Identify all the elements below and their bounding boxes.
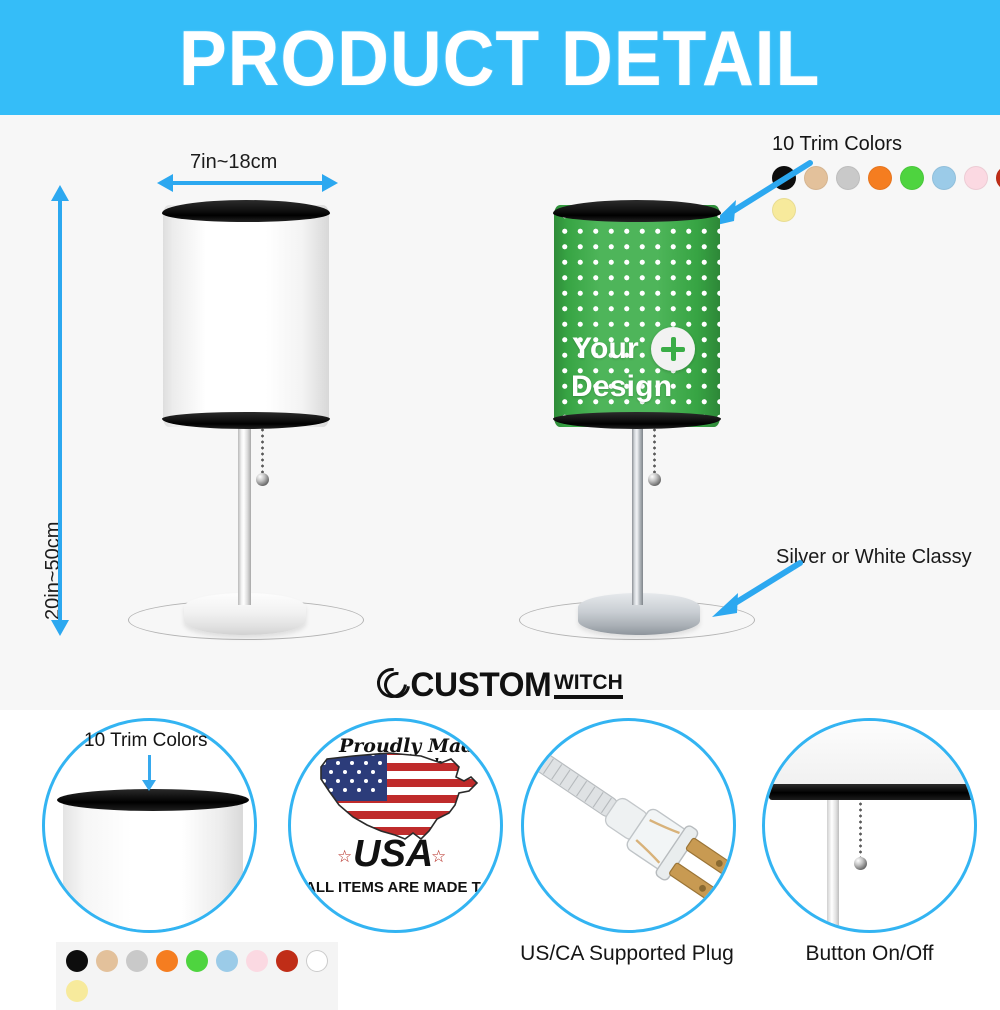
feature-swatch-row-2	[66, 980, 328, 1002]
feature-swatch-dark-red[interactable]	[276, 950, 298, 972]
design-placeholder-line2: Design	[571, 371, 672, 403]
feature-plug-circle	[521, 718, 736, 933]
feature-lamp-pole	[827, 800, 839, 933]
page-header-banner: PRODUCT DETAIL	[0, 0, 1000, 115]
logo-secondary-text: WITCH	[554, 672, 623, 693]
feature-swatch-black[interactable]	[66, 950, 88, 972]
feature-swatch-tan[interactable]	[96, 950, 118, 972]
brand-logo: CUSTOM WITCH	[0, 660, 1000, 710]
feature-switch-circle	[762, 718, 977, 933]
height-arrow-down-icon	[51, 620, 69, 636]
feature-trim-arrow-head-icon	[142, 780, 156, 791]
feature-swatch-pale-yellow[interactable]	[66, 980, 88, 1002]
design-placeholder-line1: Your	[572, 333, 639, 365]
plus-circle-icon[interactable]	[651, 327, 695, 371]
feature-swatch-row-1	[66, 950, 328, 972]
trim-swatch-gray[interactable]	[836, 166, 860, 190]
trim-swatch-orange[interactable]	[868, 166, 892, 190]
shade-trim-top-green	[553, 200, 721, 222]
feature-shade-white	[63, 799, 243, 933]
logo-primary-text: CUSTOM	[411, 666, 552, 705]
pull-chain-silver[interactable]	[653, 427, 656, 477]
feature-pull-chain-ball[interactable]	[854, 857, 867, 870]
width-dimension-label: 7in~18cm	[190, 151, 277, 174]
feature-pull-chain[interactable]	[859, 801, 862, 861]
feature-shade-trim	[57, 789, 249, 811]
feature-shade-bottom	[765, 721, 977, 787]
feature-swatch-green[interactable]	[186, 950, 208, 972]
feature-swatch-gray[interactable]	[126, 950, 148, 972]
feature-swatch-orange[interactable]	[156, 950, 178, 972]
usa-badge-subtitle: ALL ITEMS ARE MADE TO ORDER!	[305, 879, 503, 896]
base-finish-callout-arrow-icon	[700, 555, 810, 625]
lamp-pole-white	[238, 415, 251, 605]
feature-swatch-white[interactable]	[306, 950, 328, 972]
lamp-shade-white	[163, 205, 329, 427]
feature-made-in-usa-circle: Proudly Made in the	[288, 718, 503, 933]
width-arrow-right-icon	[322, 174, 338, 192]
lamp-pole-silver	[632, 415, 643, 605]
lamp-shade-green: Your Design	[554, 205, 720, 427]
product-illustration-stage: 10 Trim Colors 7in~18cm 20in~50cm	[0, 115, 1000, 710]
page-title: PRODUCT DETAIL	[179, 19, 820, 97]
trim-colors-legend-label: 10 Trim Colors	[772, 133, 1000, 156]
feature-panels: 10 Trim Colors Proudly Made	[0, 710, 1000, 1000]
trim-swatch-dark-red[interactable]	[996, 166, 1000, 190]
feature-trim-colors-label: 10 Trim Colors	[84, 730, 208, 752]
feature-swatch-pink[interactable]	[246, 950, 268, 972]
pull-chain-ball-white[interactable]	[256, 473, 269, 486]
height-arrow-up-icon	[51, 185, 69, 201]
trim-swatch-light-blue[interactable]	[932, 166, 956, 190]
shade-surface-white	[163, 205, 329, 427]
trim-swatch-pink[interactable]	[964, 166, 988, 190]
pull-chain-white[interactable]	[261, 427, 264, 477]
usa-badge-big-text: USA	[353, 833, 433, 876]
shade-trim-top-white	[162, 200, 330, 222]
pull-chain-ball-silver[interactable]	[648, 473, 661, 486]
feature-plug-caption: US/CA Supported Plug	[497, 942, 757, 966]
usa-star-right-icon: ☆	[431, 847, 446, 867]
power-plug-icon	[524, 721, 736, 933]
trim-swatch-green[interactable]	[900, 166, 924, 190]
feature-swatch-light-blue[interactable]	[216, 950, 238, 972]
logo-c-mark-icon	[377, 668, 411, 702]
height-dimension-line	[58, 200, 62, 620]
usa-star-left-icon: ☆	[337, 847, 352, 867]
width-arrow-left-icon	[157, 174, 173, 192]
feature-switch-caption: Button On/Off	[742, 942, 997, 966]
width-dimension-line	[172, 181, 322, 185]
logo-underline	[554, 695, 623, 699]
feature-shade-trim-bottom	[769, 784, 976, 800]
feature-trim-arrow-line	[148, 755, 151, 783]
